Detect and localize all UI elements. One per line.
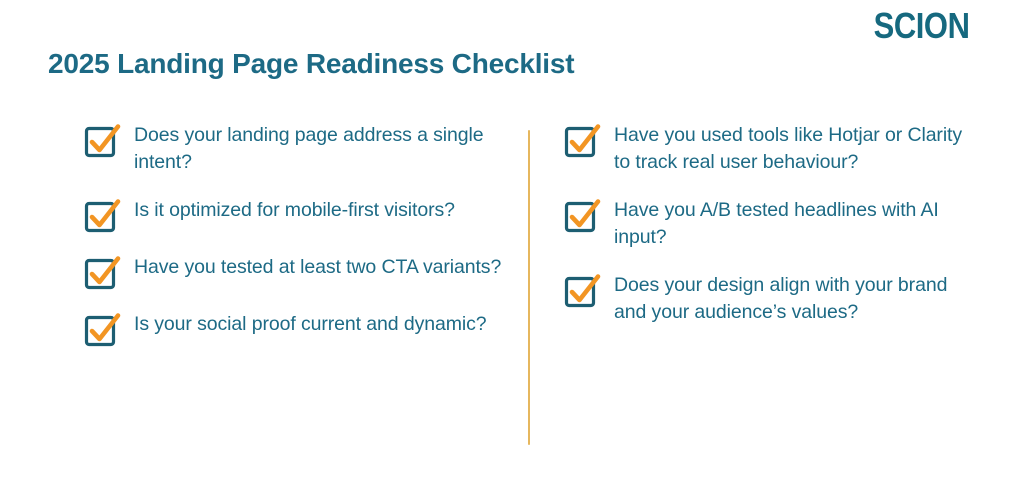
checklist-column-left: Does your landing page address a single … — [82, 122, 502, 368]
checked-checkbox-icon[interactable] — [562, 274, 596, 308]
checked-checkbox-icon[interactable] — [82, 124, 116, 158]
scion-logo: SCION — [874, 8, 970, 44]
checked-checkbox-icon[interactable] — [562, 124, 596, 158]
checklist-slide: SCION 2025 Landing Page Readiness Checkl… — [0, 0, 1024, 483]
checklist-item-label: Is your social proof current and dynamic… — [134, 311, 487, 338]
checked-checkbox-icon[interactable] — [562, 199, 596, 233]
checklist-item[interactable]: Does your design align with your brand a… — [562, 272, 982, 326]
checked-checkbox-icon[interactable] — [82, 199, 116, 233]
checklist-item-label: Have you A/B tested headlines with AI in… — [614, 197, 982, 251]
checklist-item-label: Is it optimized for mobile-first visitor… — [134, 197, 455, 224]
page-title: 2025 Landing Page Readiness Checklist — [48, 46, 574, 82]
checklist-item-label: Have you tested at least two CTA variant… — [134, 254, 501, 281]
checklist-item-label: Does your design align with your brand a… — [614, 272, 982, 326]
checked-checkbox-icon[interactable] — [82, 313, 116, 347]
checklist-item[interactable]: Have you tested at least two CTA variant… — [82, 254, 502, 290]
checklist-column-right: Have you used tools like Hotjar or Clari… — [562, 122, 982, 347]
checklist-item[interactable]: Is your social proof current and dynamic… — [82, 311, 502, 347]
checklist-columns: Does your landing page address a single … — [0, 122, 1024, 452]
checklist-item[interactable]: Does your landing page address a single … — [82, 122, 502, 176]
checklist-item-label: Have you used tools like Hotjar or Clari… — [614, 122, 982, 176]
checklist-item[interactable]: Is it optimized for mobile-first visitor… — [82, 197, 502, 233]
checklist-item-label: Does your landing page address a single … — [134, 122, 502, 176]
checklist-item[interactable]: Have you A/B tested headlines with AI in… — [562, 197, 982, 251]
checked-checkbox-icon[interactable] — [82, 256, 116, 290]
checklist-item[interactable]: Have you used tools like Hotjar or Clari… — [562, 122, 982, 176]
column-divider — [528, 130, 530, 445]
